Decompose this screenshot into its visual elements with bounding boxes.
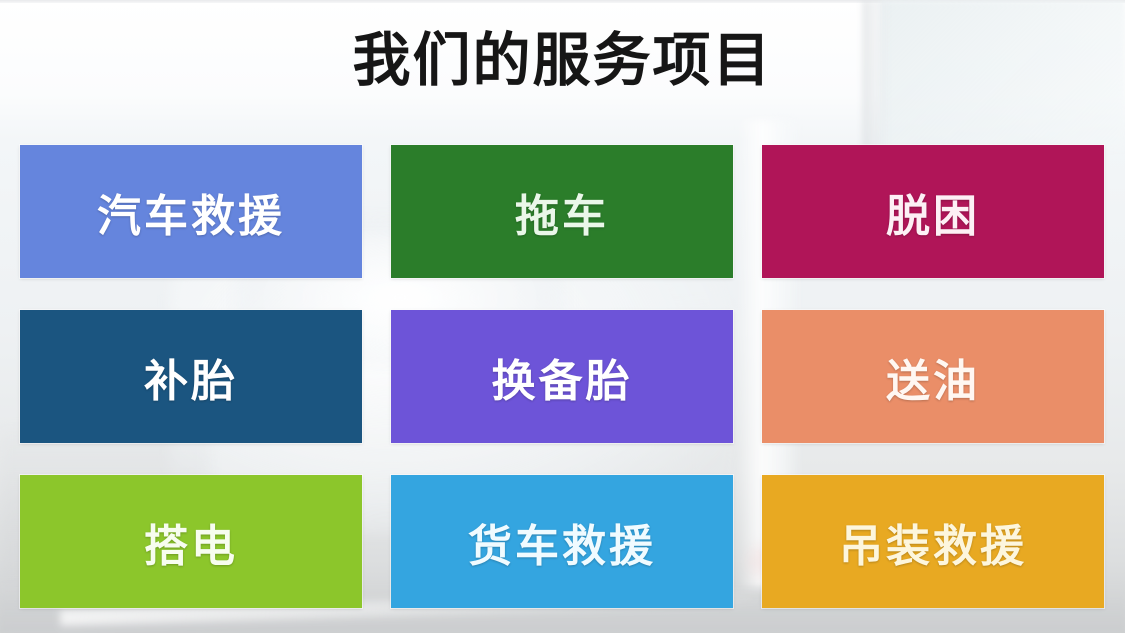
service-tile-tow-truck[interactable]: 拖车 (391, 145, 733, 278)
service-tile-label: 脱困 (886, 180, 980, 244)
service-tile-car-rescue[interactable]: 汽车救援 (20, 145, 362, 278)
service-tile-spare-tire-change[interactable]: 换备胎 (391, 310, 733, 443)
service-tile-label: 吊装救援 (839, 510, 1027, 574)
page-title: 我们的服务项目 (0, 24, 1125, 98)
service-tile-label: 汽车救援 (97, 180, 285, 244)
service-grid: 汽车救援 拖车 脱困 补胎 换备胎 送油 搭电 货车救援 吊装救援 (20, 145, 1104, 608)
service-tile-tire-repair[interactable]: 补胎 (20, 310, 362, 443)
service-tile-label: 货车救援 (468, 510, 656, 574)
service-tile-label: 补胎 (144, 345, 238, 409)
service-tile-truck-rescue[interactable]: 货车救援 (391, 475, 733, 608)
service-tile-fuel-delivery[interactable]: 送油 (762, 310, 1104, 443)
service-tile-hoisting-rescue[interactable]: 吊装救援 (762, 475, 1104, 608)
service-tile-label: 送油 (886, 345, 980, 409)
service-tile-label: 搭电 (144, 510, 238, 574)
service-tile-extraction[interactable]: 脱困 (762, 145, 1104, 278)
service-tile-jump-start[interactable]: 搭电 (20, 475, 362, 608)
service-tile-label: 拖车 (515, 180, 609, 244)
service-tile-label: 换备胎 (492, 345, 633, 409)
service-menu-poster: 我们的服务项目 汽车救援 拖车 脱困 补胎 换备胎 送油 搭电 货车救援 吊装救… (0, 0, 1125, 633)
